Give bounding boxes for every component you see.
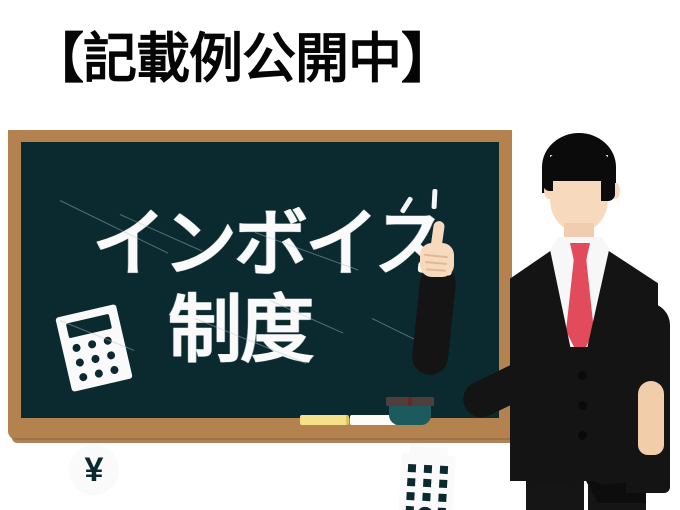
poster-canvas: 【記載例公開中】 xyxy=(0,0,680,510)
hair-sideburn-left xyxy=(544,159,553,191)
jacket-button xyxy=(578,371,587,380)
pointing-hand xyxy=(418,221,456,277)
page-title: 【記載例公開中】 xyxy=(30,24,650,94)
lowered-hand xyxy=(638,381,664,455)
blackboard-heading-line-1: インボイス xyxy=(92,203,445,285)
yen-coin-icon: ¥ xyxy=(69,445,119,495)
jacket-button xyxy=(578,401,587,410)
jacket-button xyxy=(578,431,587,440)
yellow-chalk xyxy=(300,415,349,425)
blackboard-heading-line-2: 制度 xyxy=(168,289,312,371)
hair-sideburn-right xyxy=(601,159,615,201)
raised-forearm xyxy=(410,263,457,376)
calculator-icon xyxy=(55,304,133,392)
businessman-illustration xyxy=(398,133,680,510)
yen-glyph: ¥ xyxy=(69,445,119,495)
